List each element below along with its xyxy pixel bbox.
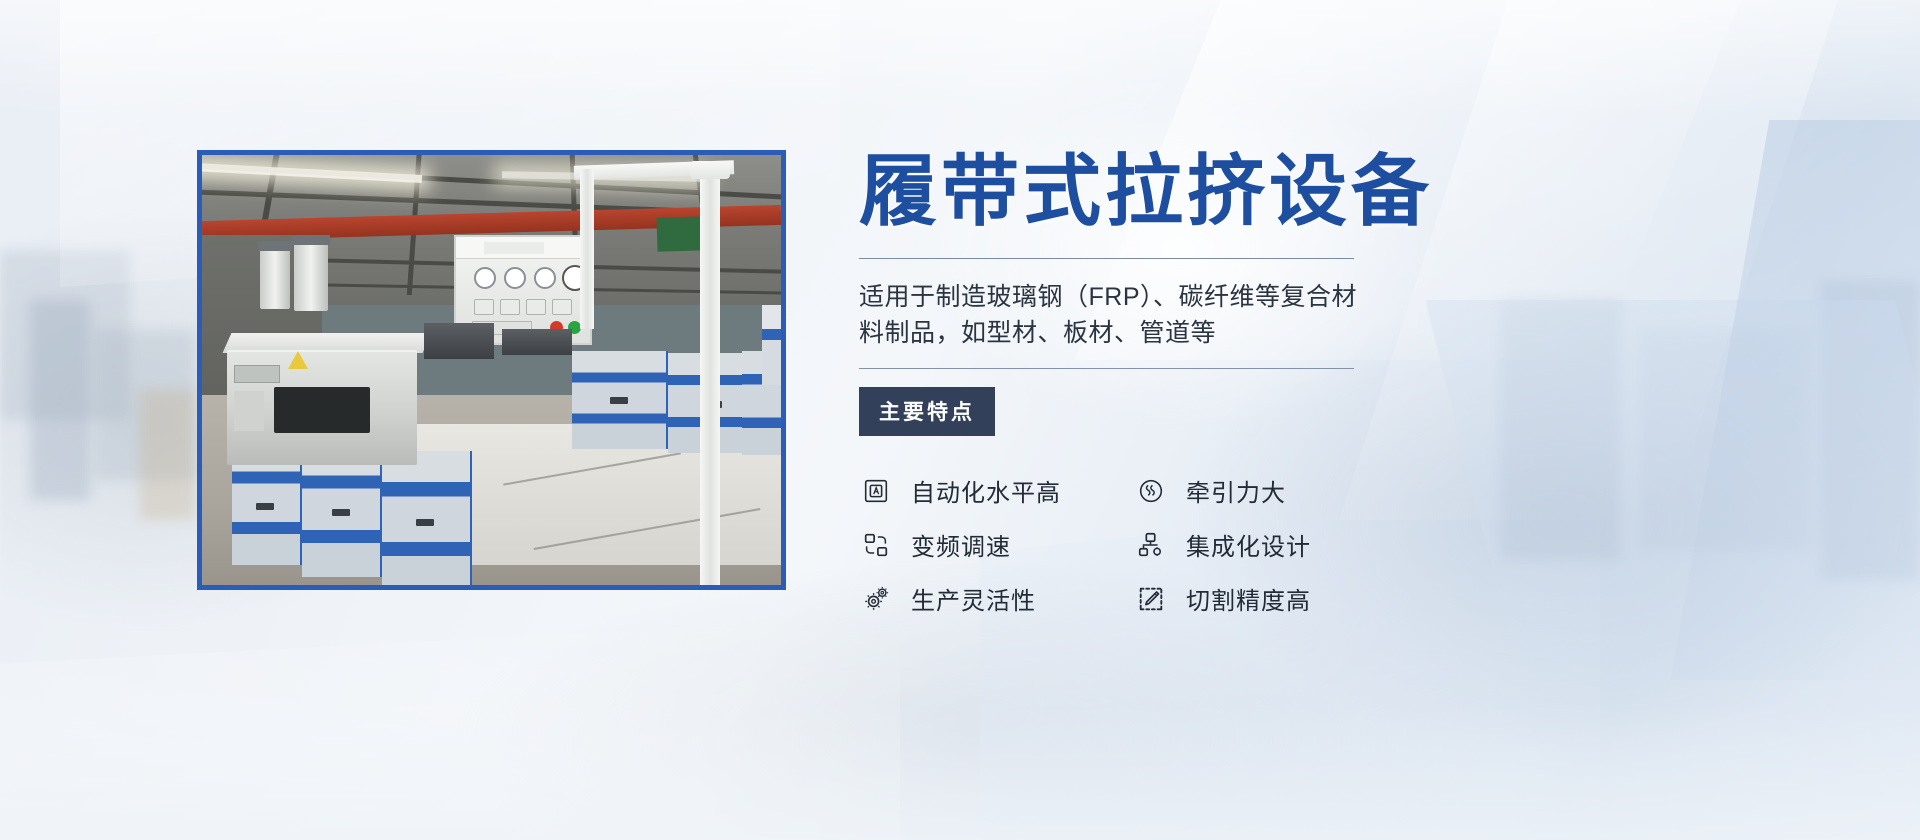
subtitle-line-1: 适用于制造玻璃钢（FRP）、碳纤维等复合材 (859, 279, 1369, 315)
product-banner: 履带式拉挤设备 适用于制造玻璃钢（FRP）、碳纤维等复合材 料制品，如型材、板材… (0, 0, 1920, 840)
feature-list: 自动化水平高 牵引力大 (859, 464, 1419, 626)
banner-subtitle: 适用于制造玻璃钢（FRP）、碳纤维等复合材 料制品，如型材、板材、管道等 (859, 279, 1369, 352)
photo-detail (500, 299, 520, 315)
feature-label: 切割精度高 (1186, 581, 1311, 616)
photo-cabinet (302, 447, 382, 577)
photo-detail (502, 329, 572, 355)
photo-detail (534, 267, 556, 289)
photo-cabinet (382, 451, 472, 590)
photo-detail (526, 299, 546, 315)
resize-nodes-icon (859, 528, 893, 562)
letter-a-frame-icon (859, 474, 893, 508)
photo-detail (292, 235, 330, 245)
photo-machine (762, 305, 786, 385)
product-photo-image (202, 155, 781, 585)
photo-gantry (690, 161, 730, 179)
page-title: 履带式拉挤设备 (859, 150, 1855, 234)
feature-row: 变频调速 集成化设计 (859, 518, 1419, 572)
feature-label: 自动化水平高 (911, 473, 1061, 508)
title-divider (859, 258, 1354, 259)
photo-detail (424, 323, 494, 359)
feature-label: 集成化设计 (1186, 527, 1311, 562)
main-features-badge: 主要特点 (859, 387, 995, 436)
subtitle-divider (859, 368, 1354, 369)
feature-row: 生产灵活性 切割精度高 (859, 572, 1419, 626)
photo-detail (484, 242, 544, 254)
feature-item-vfd-speed: 变频调速 (859, 518, 1134, 572)
feature-label: 牵引力大 (1186, 473, 1286, 508)
spiral-circle-icon (1134, 474, 1168, 508)
banner-content: 履带式拉挤设备 适用于制造玻璃钢（FRP）、碳纤维等复合材 料制品，如型材、板材… (855, 150, 1855, 626)
photo-detail (552, 299, 572, 315)
feature-item-integrated-design: 集成化设计 (1134, 518, 1409, 572)
photo-detail (474, 267, 496, 289)
feature-item-automation: 自动化水平高 (859, 464, 1134, 518)
feature-item-traction: 牵引力大 (1134, 464, 1409, 518)
feature-label: 生产灵活性 (911, 581, 1036, 616)
photo-detail (474, 299, 494, 315)
photo-tank (294, 241, 328, 311)
photo-gantry (580, 169, 594, 329)
hierarchy-gear-icon (1134, 528, 1168, 562)
photo-tank (260, 247, 290, 309)
feature-row: 自动化水平高 牵引力大 (859, 464, 1419, 518)
photo-detail (274, 387, 370, 433)
feature-item-flexibility: 生产灵活性 (859, 572, 1134, 626)
photo-detail (504, 267, 526, 289)
photo-detail (234, 365, 280, 383)
photo-detail (258, 241, 292, 251)
photo-cabinet (572, 351, 668, 449)
product-photo (197, 150, 786, 590)
subtitle-line-2: 料制品，如型材、板材、管道等 (859, 315, 1369, 351)
feature-item-cutting-precision: 切割精度高 (1134, 572, 1409, 626)
photo-detail (234, 391, 264, 431)
photo-gantry (700, 167, 720, 587)
gears-icon (859, 582, 893, 616)
dashed-pencil-icon (1134, 582, 1168, 616)
feature-label: 变频调速 (911, 527, 1011, 562)
